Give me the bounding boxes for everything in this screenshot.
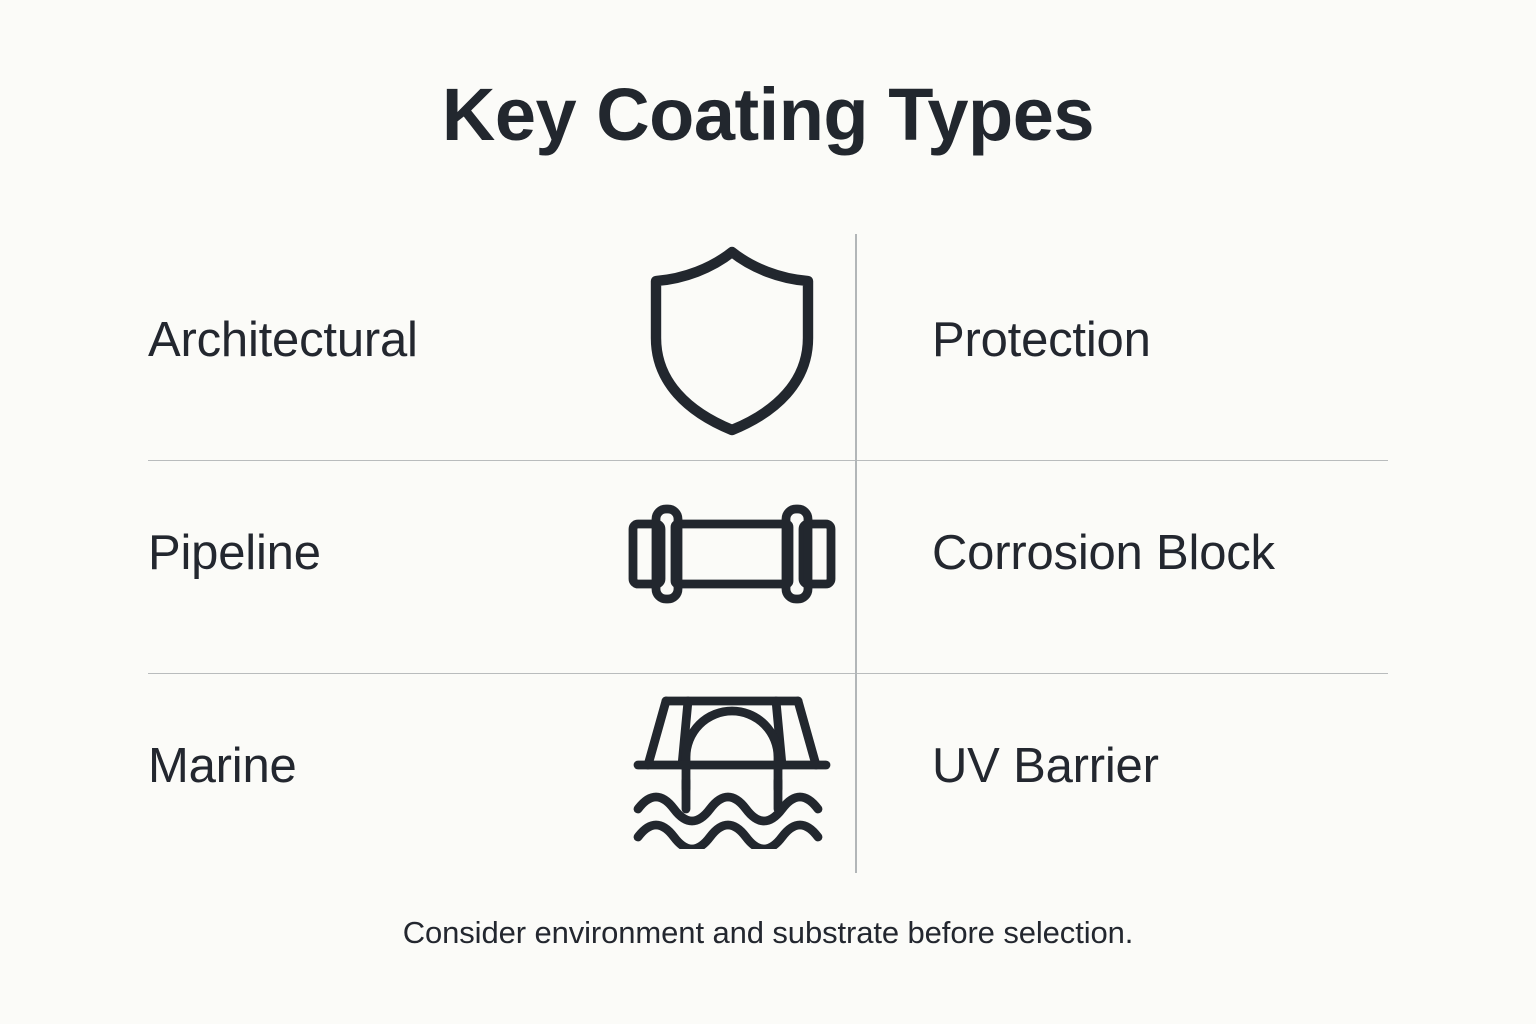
infographic-canvas: Key Coating Types Architectural Protecti… — [0, 0, 1536, 1024]
row-icon-cell — [608, 246, 855, 436]
page-title: Key Coating Types — [0, 78, 1536, 152]
row-icon-cell — [608, 685, 855, 849]
coating-benefit-value: UV Barrier — [855, 740, 1388, 794]
coating-type-label: Pipeline — [148, 527, 608, 581]
coating-types-table: Architectural Protection Pipeline — [148, 234, 1388, 873]
footer-note: Consider environment and substrate befor… — [0, 915, 1536, 951]
pipe-icon — [627, 498, 837, 610]
row-icon-cell — [608, 498, 855, 610]
table-row: Architectural Protection — [148, 234, 1388, 447]
coating-type-label: Architectural — [148, 314, 608, 368]
coating-type-label: Marine — [148, 740, 608, 794]
coating-benefit-value: Corrosion Block — [855, 527, 1388, 581]
coating-benefit-value: Protection — [855, 314, 1388, 368]
table-row: Marine — [148, 660, 1388, 873]
table-row: Pipeline C — [148, 447, 1388, 660]
shield-icon — [644, 246, 820, 436]
bridge-over-water-icon — [632, 685, 832, 849]
